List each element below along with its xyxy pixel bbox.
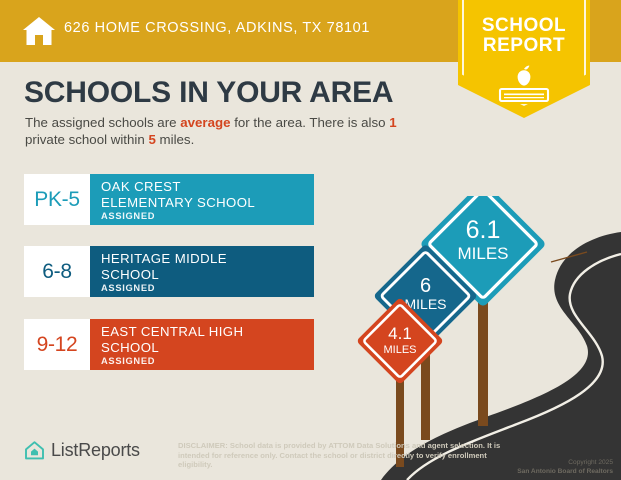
school-report-badge: SCHOOL REPORT xyxy=(458,0,590,118)
book-icon xyxy=(500,89,548,101)
copyright-source: San Antonio Board of Realtors xyxy=(517,468,613,477)
summary-private-count: 1 xyxy=(389,115,396,130)
summary-text: The assigned schools are average for the… xyxy=(25,114,425,148)
sign-unit-3: MILES xyxy=(457,244,508,263)
copyright-block: Copyright 2025 San Antonio Board of Real… xyxy=(517,459,613,476)
school-status-badge: ASSIGNED xyxy=(101,356,314,366)
summary-radius-miles: 5 xyxy=(148,132,155,147)
disclaimer-label: DISCLAIMER: xyxy=(178,441,228,450)
school-name-line2: SCHOOL xyxy=(101,267,314,283)
school-name: OAK CREST ELEMENTARY SCHOOL xyxy=(101,179,314,210)
school-name: EAST CENTRAL HIGH SCHOOL xyxy=(101,324,314,355)
summary-part-1: The assigned schools are xyxy=(25,115,180,130)
logo-wordmark: ListReports xyxy=(51,440,140,461)
summary-part-2: for the area. There is also xyxy=(231,115,390,130)
school-status-badge: ASSIGNED xyxy=(101,211,314,221)
school-name-line2: SCHOOL xyxy=(101,340,314,356)
school-name-line1: HERITAGE MIDDLE xyxy=(101,251,314,267)
house-outline-icon xyxy=(24,440,45,461)
school-row[interactable]: 6-8 HERITAGE MIDDLE SCHOOL ASSIGNED xyxy=(24,246,314,297)
sign-value-3: 6.1 xyxy=(466,216,501,244)
apple-and-book-art xyxy=(458,62,590,106)
copyright-year: Copyright 2025 xyxy=(517,459,613,468)
page-title: SCHOOLS IN YOUR AREA xyxy=(24,76,393,110)
school-name: HERITAGE MIDDLE SCHOOL xyxy=(101,251,314,282)
school-name-line1: EAST CENTRAL HIGH xyxy=(101,324,314,340)
sign-value-1: 4.1 xyxy=(388,324,412,343)
school-grade-range: 6-8 xyxy=(24,246,90,297)
school-info: EAST CENTRAL HIGH SCHOOL ASSIGNED xyxy=(90,319,314,370)
school-name-line2: ELEMENTARY SCHOOL xyxy=(101,195,314,211)
school-report-infographic: 626 HOME CROSSING, ADKINS, TX 78101 SCHO… xyxy=(0,0,621,480)
school-grade-range: PK-5 xyxy=(24,174,90,225)
badge-title-line2: REPORT xyxy=(458,36,590,56)
school-row[interactable]: 9-12 EAST CENTRAL HIGH SCHOOL ASSIGNED xyxy=(24,319,314,370)
school-row[interactable]: PK-5 OAK CREST ELEMENTARY SCHOOL ASSIGNE… xyxy=(24,174,314,225)
school-grade-range: 9-12 xyxy=(24,319,90,370)
school-status-badge: ASSIGNED xyxy=(101,283,314,293)
summary-rating: average xyxy=(180,115,230,130)
summary-part-4: miles. xyxy=(156,132,194,147)
property-address: 626 HOME CROSSING, ADKINS, TX 78101 xyxy=(64,20,370,36)
sign-unit-1: MILES xyxy=(383,344,416,356)
school-info: HERITAGE MIDDLE SCHOOL ASSIGNED xyxy=(90,246,314,297)
summary-part-3: private school within xyxy=(25,132,148,147)
school-info: OAK CREST ELEMENTARY SCHOOL ASSIGNED xyxy=(90,174,314,225)
sign-value-2: 6 xyxy=(420,275,431,297)
school-name-line1: OAK CREST xyxy=(101,179,314,195)
badge-title-line1: SCHOOL xyxy=(458,16,590,36)
badge-title: SCHOOL REPORT xyxy=(458,16,590,56)
listreports-logo[interactable]: ListReports xyxy=(24,440,140,461)
house-icon xyxy=(22,14,56,48)
road-with-distance-signs: 6.1 MILES 6 MILES 4.1 xyxy=(355,196,621,480)
apple-icon xyxy=(518,66,531,86)
disclaimer-text: DISCLAIMER: School data is provided by A… xyxy=(178,441,508,470)
